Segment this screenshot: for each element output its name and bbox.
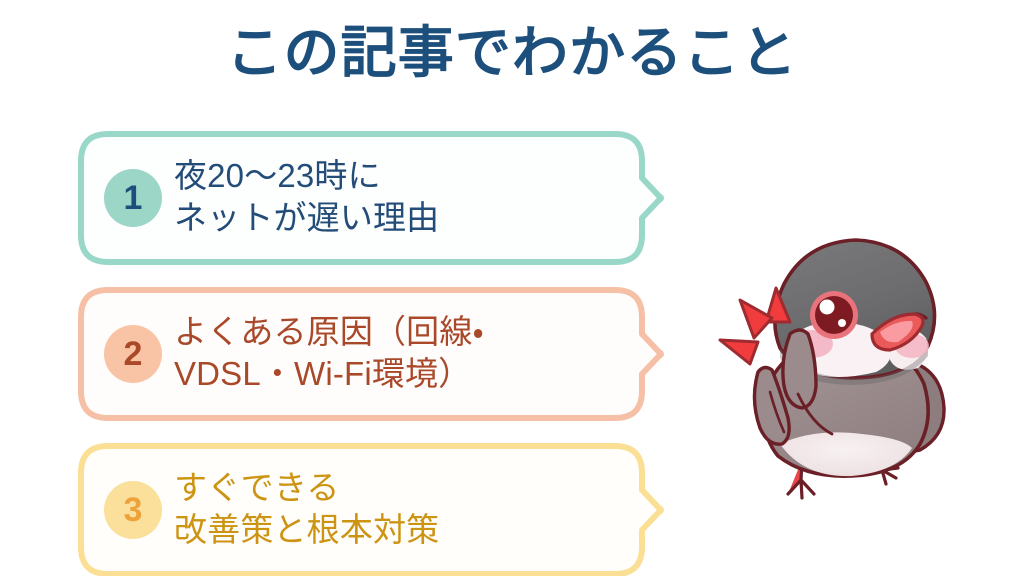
bubble-number-1: 1: [124, 181, 143, 215]
bubble-content-1: 1 夜20〜23時に ネットが遅い理由: [78, 131, 645, 265]
page-title: この記事でわかること: [0, 22, 1024, 84]
bubble-text-2: よくある原因（回線・ VDSL・Wi-Fi環境）: [174, 311, 645, 397]
bubble-item-3[interactable]: 3 すぐできる 改善策と根本対策: [78, 443, 645, 576]
mascot-body-group: [720, 240, 944, 498]
bubble-item-1[interactable]: 1 夜20〜23時に ネットが遅い理由: [78, 131, 645, 265]
bubble-number-2: 2: [124, 337, 143, 371]
bubble-text-1: 夜20〜23時に ネットが遅い理由: [174, 155, 645, 241]
bubble-number-badge-2: 2: [104, 325, 162, 383]
bubble-number-badge-1: 1: [104, 169, 162, 227]
bubble-number-badge-3: 3: [104, 481, 162, 539]
bubble-list: 1 夜20〜23時に ネットが遅い理由 2 よくある原因（回線・ VDSL・Wi…: [78, 131, 668, 576]
bubble-text-3: すぐできる 改善策と根本対策: [174, 467, 645, 553]
bubble-number-3: 3: [124, 493, 143, 527]
java-sparrow-mascot: [706, 222, 1006, 522]
bubble-content-3: 3 すぐできる 改善策と根本対策: [78, 443, 645, 576]
slide-canvas: この記事でわかること 1 夜20〜23時に ネットが遅い理由 2: [0, 0, 1024, 576]
bubble-content-2: 2 よくある原因（回線・ VDSL・Wi-Fi環境）: [78, 287, 645, 421]
bubble-item-2[interactable]: 2 よくある原因（回線・ VDSL・Wi-Fi環境）: [78, 287, 645, 421]
mascot-eye: [810, 291, 858, 339]
